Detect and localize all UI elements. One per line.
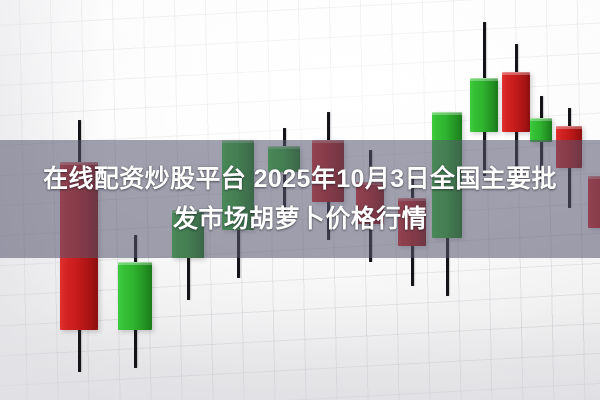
candlestick-body-up bbox=[530, 118, 552, 142]
candlestick-body-cap bbox=[530, 118, 552, 121]
candlestick-body-cap bbox=[118, 262, 152, 265]
candlestick-body-cap bbox=[470, 78, 498, 81]
candlestick-body-cap bbox=[556, 126, 582, 129]
candlestick-body-cap bbox=[432, 112, 462, 115]
candlestick-body-cap bbox=[502, 72, 530, 75]
candlestick-body-down bbox=[502, 72, 530, 132]
chart-banner: 在线配资炒股平台 2025年10月3日全国主要批 发市场胡萝卜价格行情 bbox=[0, 0, 600, 400]
banner-title: 在线配资炒股平台 2025年10月3日全国主要批 发市场胡萝卜价格行情 bbox=[0, 140, 600, 258]
candlestick-body-up bbox=[118, 262, 152, 330]
candlestick-body-up bbox=[470, 78, 498, 132]
title-line-1: 在线配资炒股平台 2025年10月3日全国主要批 bbox=[43, 160, 557, 198]
title-line-2: 发市场胡萝卜价格行情 bbox=[173, 200, 427, 238]
